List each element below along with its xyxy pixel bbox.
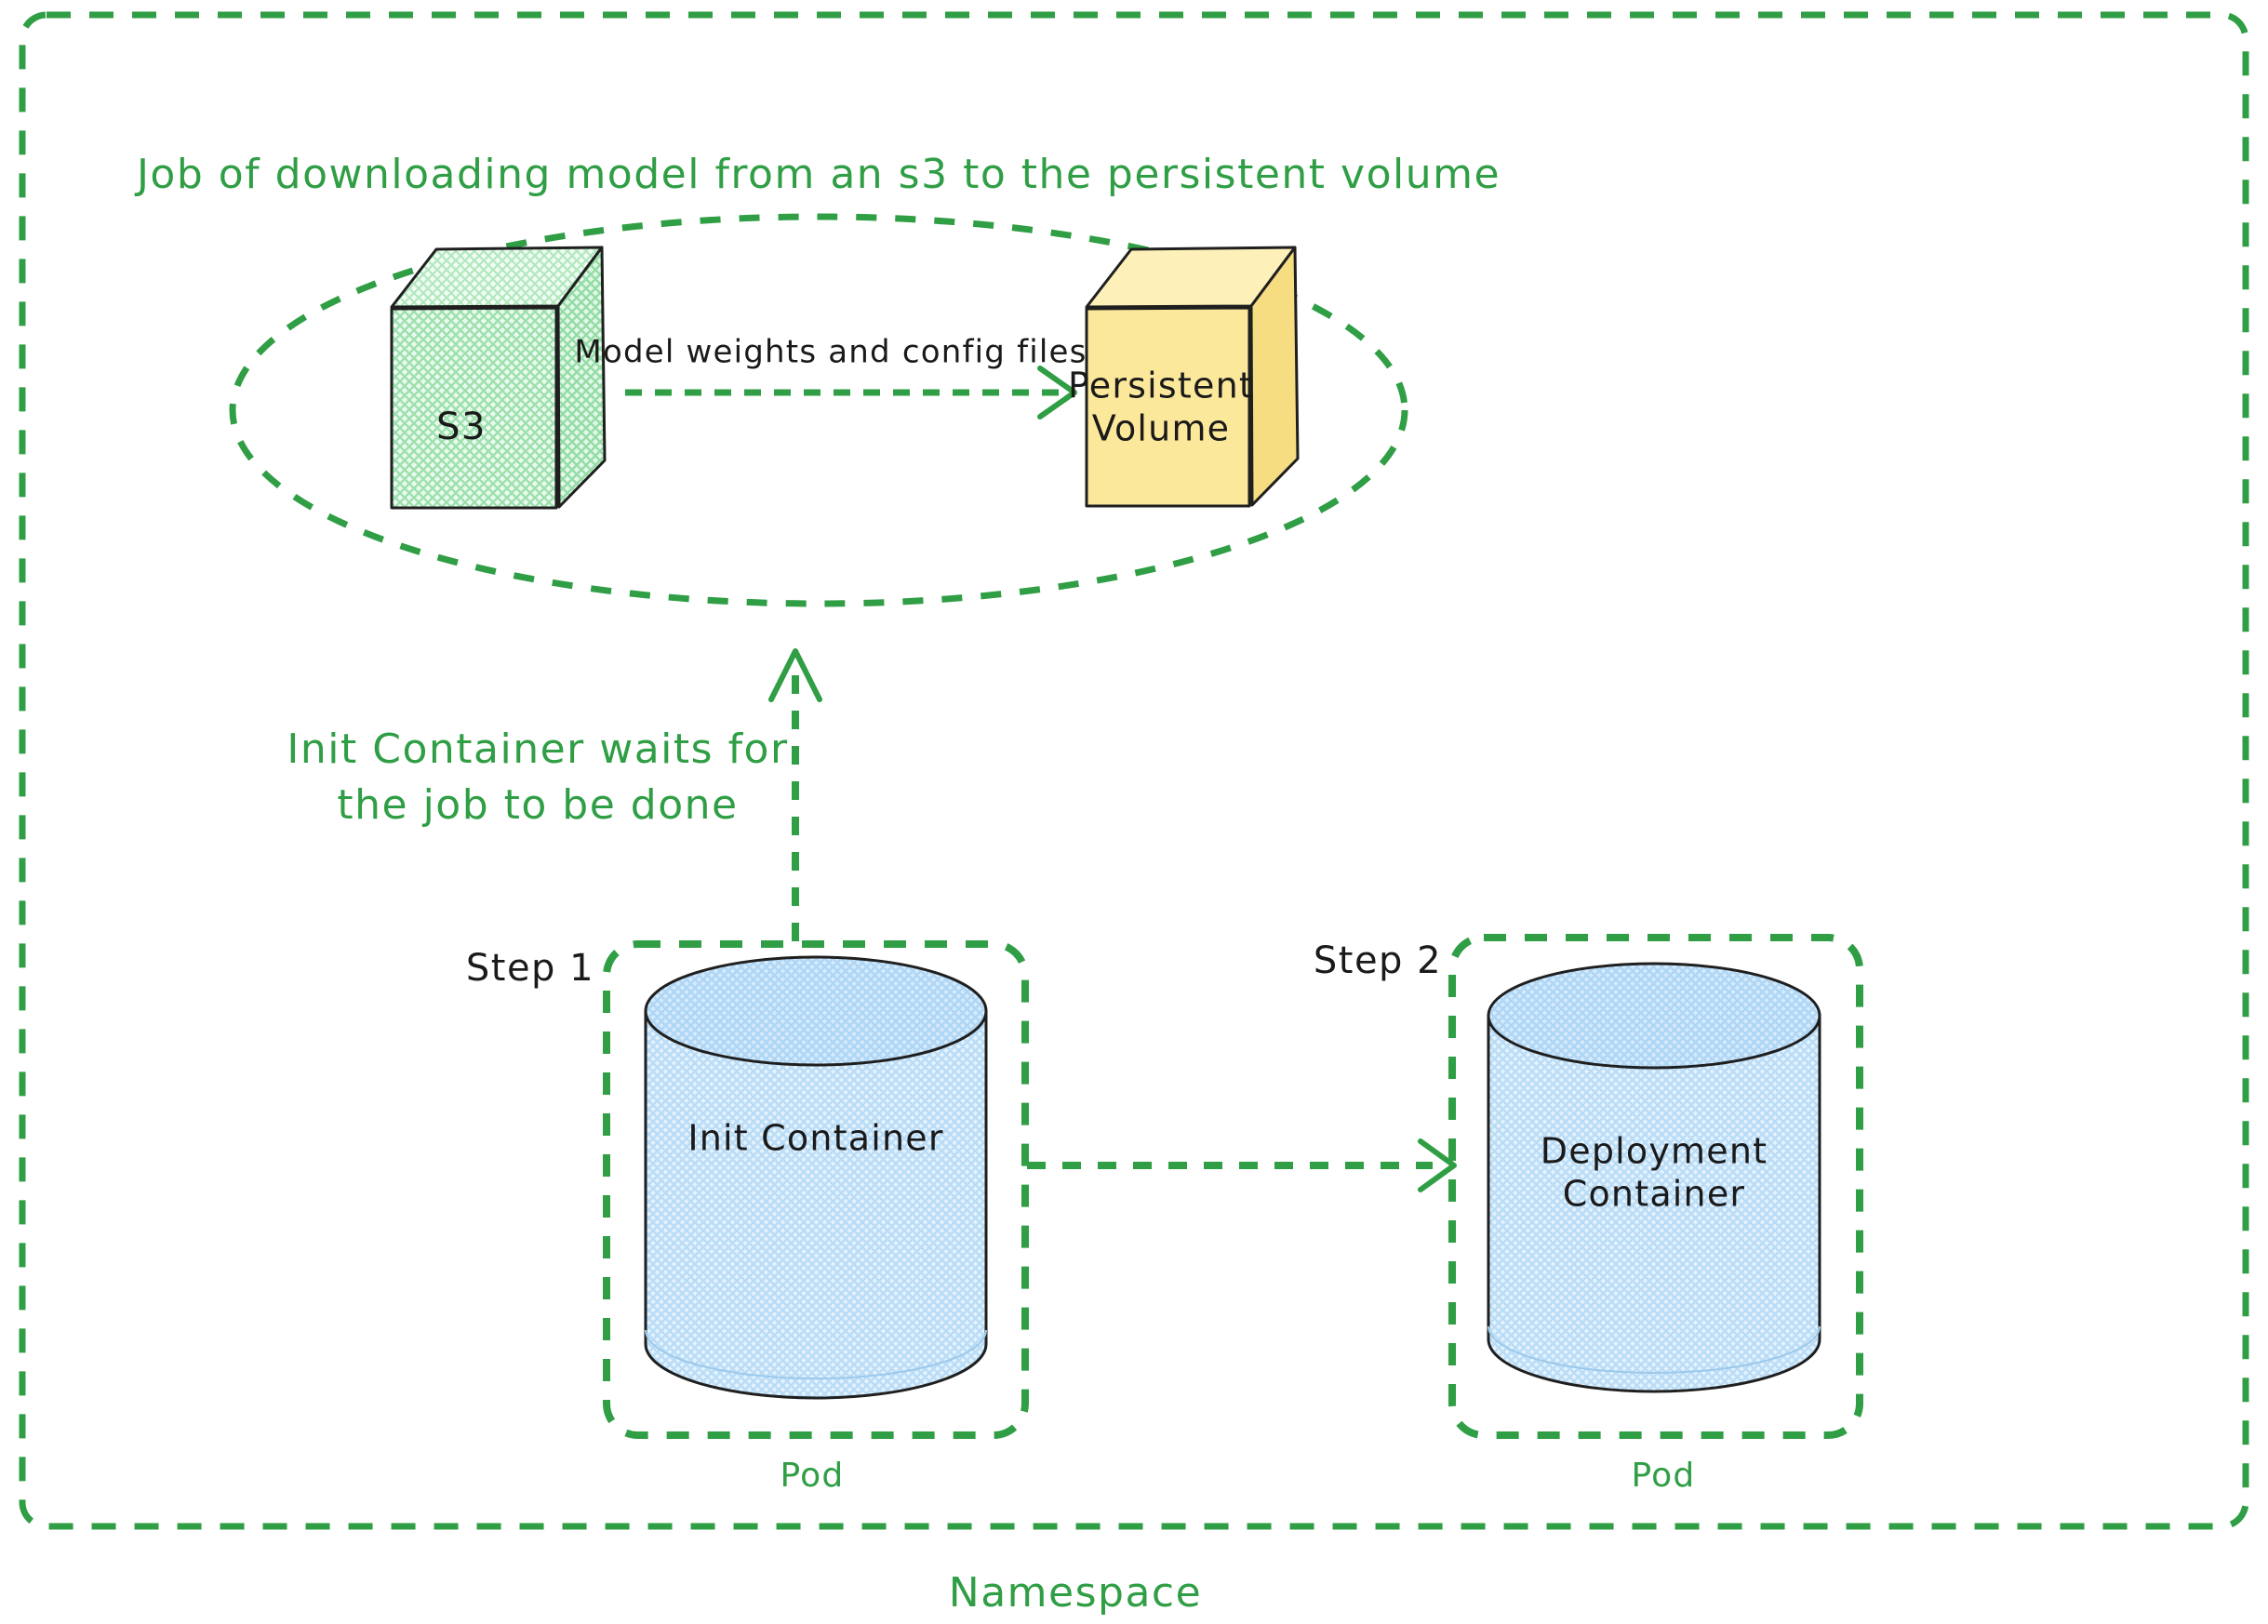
s3-label: S3 xyxy=(436,406,487,448)
init-wait-arrow xyxy=(771,651,820,941)
diagram-canvas: Job of downloading model from an s3 to t… xyxy=(0,0,2268,1624)
pod-2-label: Pod xyxy=(1632,1457,1696,1495)
deployment-container-label-line2: Container xyxy=(1563,1174,1746,1215)
job-title: Job of downloading model from an s3 to t… xyxy=(134,151,1501,198)
init-wait-note-line2: the job to be done xyxy=(337,781,738,829)
step-2-label: Step 2 xyxy=(1314,939,1442,982)
persistent-volume-label-line1: Persistent xyxy=(1068,366,1254,406)
init-container-label: Init Container xyxy=(687,1118,943,1159)
deployment-container-label-line1: Deployment xyxy=(1541,1131,1768,1172)
s3-cube xyxy=(392,247,605,508)
transfer-arrow xyxy=(625,368,1074,417)
init-wait-note-line1: Init Container waits for xyxy=(287,725,788,773)
persistent-volume-label-line2: Volume xyxy=(1092,408,1231,449)
step-1-label: Step 1 xyxy=(466,947,594,990)
pod-to-pod-arrow xyxy=(1027,1141,1454,1190)
namespace-label: Namespace xyxy=(949,1569,1202,1617)
transfer-label: Model weights and config files xyxy=(574,334,1087,371)
pod-1-label: Pod xyxy=(780,1457,845,1495)
init-container-cylinder xyxy=(646,957,986,1398)
